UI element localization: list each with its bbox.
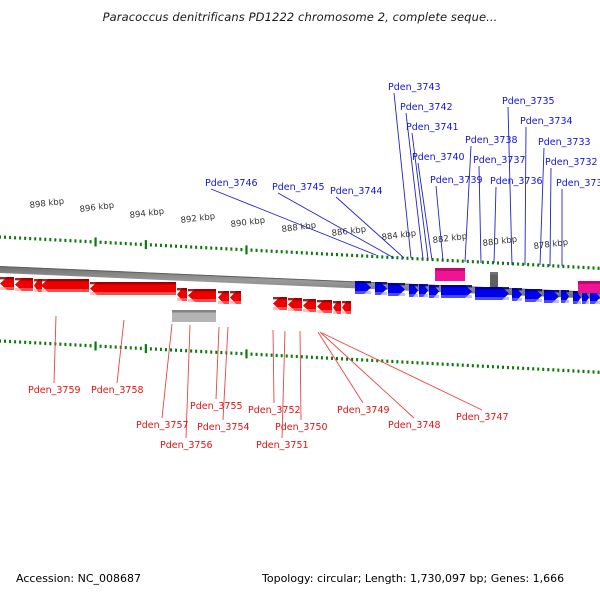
label-leader-line — [525, 127, 526, 265]
ruler-tick — [537, 263, 539, 266]
ruler-tick — [150, 243, 152, 246]
ruler-tick — [396, 360, 398, 363]
ruler-tick — [341, 357, 343, 360]
ruler-tick — [447, 259, 449, 262]
gene-bevel — [342, 311, 351, 314]
ruler-tick — [371, 359, 373, 362]
gene-bevel — [288, 308, 302, 311]
gene-bevel — [317, 300, 332, 302]
ruler-tick — [24, 341, 26, 344]
label-leader-line — [273, 330, 274, 403]
ruler-tick — [316, 356, 318, 359]
ruler-tick — [245, 349, 247, 358]
ruler-tick — [301, 355, 303, 358]
ruler-tick — [170, 244, 172, 247]
misc-feature-bevel — [490, 272, 498, 275]
ruler-tick — [527, 367, 529, 370]
ruler-tick — [215, 247, 217, 250]
ruler-tick — [170, 348, 172, 351]
ruler-tick — [261, 353, 263, 356]
gene-label-forward[interactable]: Pden_3741 — [406, 122, 459, 133]
ruler-tick — [34, 341, 36, 344]
ruler-tick — [572, 265, 574, 268]
gene-bevel — [419, 284, 428, 286]
ruler-tick — [19, 236, 21, 239]
ruler-tick — [29, 341, 31, 344]
ruler-tick — [361, 254, 363, 257]
ruler-tick — [366, 359, 368, 362]
gene-bevel — [429, 285, 439, 287]
gene-label-forward[interactable]: Pden_3731 — [556, 178, 600, 189]
ruler-tick — [577, 266, 579, 269]
gene-bevel — [218, 301, 229, 304]
gene-bevel — [218, 291, 229, 293]
ruler-tick — [160, 348, 162, 351]
gene-bevel — [409, 294, 418, 297]
ruler-tick — [4, 236, 6, 239]
ruler-tick — [220, 247, 222, 250]
ruler-tick — [120, 242, 122, 245]
ruler-tick-label: 886 kbp — [331, 225, 367, 239]
ruler-tick-label: 884 kbp — [381, 229, 417, 243]
ruler-tick — [110, 241, 112, 244]
gene-bevel — [441, 295, 472, 298]
ruler-tick — [487, 365, 489, 368]
ruler-tick — [416, 361, 418, 364]
ruler-tick — [220, 351, 222, 354]
ruler-tick — [175, 245, 177, 248]
ruler-tick — [366, 255, 368, 258]
ruler-tick — [205, 246, 207, 249]
label-leader-line — [162, 324, 172, 418]
ruler-tick — [175, 349, 177, 352]
ruler-tick — [502, 366, 504, 369]
label-leader-line — [550, 168, 551, 266]
gene-bevel — [375, 282, 387, 284]
gene-bevel — [573, 301, 581, 304]
ruler-tick — [200, 350, 202, 353]
ruler-tick — [477, 260, 479, 263]
ruler-tick — [316, 252, 318, 255]
gene-label-reverse[interactable]: Pden_3750 — [275, 422, 328, 433]
ruler-tick — [356, 358, 358, 361]
gene-label-forward[interactable]: Pden_3734 — [520, 116, 573, 127]
ruler-tick — [467, 260, 469, 263]
ruler-tick-label: 896 kbp — [79, 201, 115, 215]
gene-bevel — [34, 289, 42, 292]
ruler-tick — [64, 239, 66, 242]
gene-bevel — [288, 298, 302, 300]
ruler-tick — [386, 360, 388, 363]
ruler-tick — [90, 344, 92, 347]
ruler-tick — [94, 237, 96, 246]
ruler-tick — [225, 247, 227, 250]
gene-label-forward[interactable]: Pden_3733 — [538, 137, 591, 148]
gene-bevel — [582, 301, 589, 304]
ruler-tick — [100, 241, 102, 244]
reverse-gene-labels[interactable]: Pden_3759Pden_3758Pden_3757Pden_3756Pden… — [28, 385, 509, 451]
gene-bevel — [475, 287, 509, 289]
ruler-tick — [125, 346, 127, 349]
gene-label-forward[interactable]: Pden_3745 — [272, 182, 325, 193]
ruler-tick — [517, 366, 519, 369]
gene-bevel — [41, 289, 89, 292]
ruler-tick — [19, 340, 21, 343]
gene-bevel — [90, 292, 176, 295]
gene-label-forward[interactable]: Pden_3739 — [430, 175, 483, 186]
ruler-tick — [256, 249, 258, 252]
gene-label-reverse[interactable]: Pden_3755 — [190, 401, 243, 412]
ruler-tick — [467, 364, 469, 367]
ruler-tick-label: 898 kbp — [29, 197, 65, 211]
accession-text: Accession: NC_008687 — [16, 572, 141, 585]
gene-bevel — [475, 297, 509, 300]
ruler-tick — [180, 349, 182, 352]
ruler-tick — [245, 245, 247, 254]
ruler-tick — [562, 265, 564, 268]
gene-label-forward[interactable]: Pden_3740 — [412, 152, 465, 163]
ruler-tick — [49, 238, 51, 241]
gene-bevel — [409, 284, 418, 286]
ruler-tick — [341, 253, 343, 256]
ruler-tick — [588, 370, 590, 373]
ruler-tick-label: 890 kbp — [230, 216, 266, 230]
ruler-tick — [351, 254, 353, 257]
gene-label-forward[interactable]: Pden_3743 — [388, 82, 441, 93]
ruler-tick — [311, 356, 313, 359]
ruler-tick — [135, 242, 137, 245]
forward-strand-genes[interactable] — [355, 281, 600, 304]
ruler-tick — [557, 265, 559, 268]
ruler-tick — [79, 240, 81, 243]
gene-bevel — [388, 283, 405, 285]
ruler-tick — [100, 345, 102, 348]
ruler-tick — [547, 264, 549, 267]
gene-bevel — [441, 285, 472, 287]
ruler-tick — [160, 244, 162, 247]
ruler-tick — [39, 238, 41, 241]
ruler-tick — [427, 362, 429, 365]
ruler-tick — [210, 246, 212, 249]
label-leader-line — [54, 316, 56, 383]
gene-label-forward[interactable]: Pden_3746 — [205, 178, 258, 189]
gene-bevel — [355, 291, 371, 294]
gene-label-forward[interactable]: Pden_3742 — [400, 102, 453, 113]
gene-label-forward[interactable]: Pden_3732 — [545, 157, 598, 168]
ruler-tick — [336, 253, 338, 256]
gene-label-reverse[interactable]: Pden_3756 — [160, 440, 213, 451]
ruler-tick — [472, 364, 474, 367]
ruler-tick — [271, 250, 273, 253]
gene-bevel — [590, 301, 600, 304]
ruler-tick — [326, 252, 328, 255]
ruler-tick — [396, 256, 398, 259]
gene-bevel — [188, 289, 216, 291]
ruler-tick — [85, 240, 87, 243]
label-leader-line — [322, 333, 482, 410]
gene-bevel — [188, 299, 216, 302]
ruler-tick — [235, 248, 237, 251]
ruler-tick — [331, 357, 333, 360]
ruler-tick — [286, 354, 288, 357]
ruler-tick — [281, 354, 283, 357]
ruler-tick — [0, 235, 1, 238]
ruler-tick — [311, 252, 313, 255]
ruler-tick — [190, 245, 192, 248]
ruler-tick — [165, 348, 167, 351]
ruler-tick — [145, 344, 147, 353]
ruler-tick — [74, 343, 76, 346]
gene-label-forward[interactable]: Pden_3744 — [330, 186, 383, 197]
ruler-tick — [205, 350, 207, 353]
ruler-tick — [497, 365, 499, 368]
ruler-tick — [411, 361, 413, 364]
ruler-tick-label: 894 kbp — [129, 207, 165, 221]
ruler-tick — [266, 249, 268, 252]
ruler-tick — [251, 353, 253, 356]
ruler-tick — [406, 361, 408, 364]
gene-bevel — [419, 294, 428, 297]
ruler-tick — [507, 366, 509, 369]
ruler-tick-label: 878 kbp — [533, 238, 569, 252]
ruler-tick — [517, 262, 519, 265]
ruler-tick — [90, 240, 92, 243]
gene-label-forward[interactable]: Pden_3735 — [502, 96, 555, 107]
ruler-tick — [552, 368, 554, 371]
gene-bevel — [273, 297, 287, 299]
ruler-tick — [482, 365, 484, 368]
ruler-tick — [386, 256, 388, 259]
ruler-tick — [230, 247, 232, 250]
gene-bevel — [230, 291, 241, 293]
misc-feature-bevel — [172, 310, 216, 313]
ruler-tick — [321, 252, 323, 255]
genome-map-viewer[interactable]: Paracoccus denitrificans PD1222 chromoso… — [0, 0, 600, 600]
ruler-tick — [598, 267, 600, 270]
ruler-tick — [165, 244, 167, 247]
ruler-tick — [452, 259, 454, 262]
gene-bevel — [230, 301, 241, 304]
ruler-tick — [276, 354, 278, 357]
gene-label-reverse[interactable]: Pden_3751 — [256, 440, 309, 451]
gene-label-reverse[interactable]: Pden_3748 — [388, 420, 441, 431]
ruler-tick — [582, 266, 584, 269]
ruler-tick — [527, 263, 529, 266]
ruler-tick — [69, 239, 71, 242]
ruler-tick — [130, 346, 132, 349]
ruler-tick — [4, 340, 6, 343]
gene-bevel — [342, 301, 351, 303]
ruler-tick — [291, 251, 293, 254]
ruler-tick — [593, 266, 595, 269]
ruler-tick — [64, 343, 66, 346]
ruler-tick — [69, 343, 71, 346]
ruler-tick — [135, 346, 137, 349]
ruler-tick — [457, 363, 459, 366]
gene-bevel — [512, 288, 522, 290]
ruler-tick — [462, 364, 464, 367]
gene-label-forward[interactable]: Pden_3738 — [465, 135, 518, 146]
ruler-tick — [562, 369, 564, 372]
ruler-tick — [9, 236, 11, 239]
ruler-tick — [336, 357, 338, 360]
topology-stats-text: Topology: circular; Length: 1,730,097 bp… — [262, 572, 564, 585]
ruler-tick — [195, 350, 197, 353]
ruler-tick — [115, 345, 117, 348]
gene-bevel — [41, 279, 89, 281]
ruler-tick — [371, 255, 373, 258]
ruler-tick — [482, 261, 484, 264]
ruler-tick — [542, 368, 544, 371]
ruler-tick — [411, 257, 413, 260]
ruler-tick — [251, 249, 253, 252]
gene-bevel — [388, 293, 405, 296]
label-leader-line — [436, 186, 443, 261]
ruler-tick — [195, 246, 197, 249]
ruler-tick — [94, 341, 96, 350]
gene-bevel — [429, 295, 439, 298]
ruler-tick — [39, 342, 41, 345]
ruler-tick — [155, 348, 157, 351]
ruler-tick — [59, 239, 61, 242]
ruler-tick — [200, 246, 202, 249]
ruler-tick — [391, 360, 393, 363]
ruler-tick — [180, 245, 182, 248]
ruler-tick — [477, 364, 479, 367]
ruler-tick — [577, 370, 579, 373]
ruler-tick — [552, 264, 554, 267]
ruler-tick-label: 882 kbp — [432, 232, 468, 246]
ruler-tick — [361, 358, 363, 361]
ruler-tick — [416, 257, 418, 260]
ruler-tick — [296, 355, 298, 358]
ruler-tick — [105, 241, 107, 244]
ruler-tick — [401, 360, 403, 363]
gene-bevel — [15, 288, 33, 291]
ruler-tick — [215, 351, 217, 354]
gene-label-reverse[interactable]: Pden_3752 — [248, 405, 301, 416]
ruler-tick — [140, 243, 142, 246]
ruler-tick — [296, 251, 298, 254]
ruler-tick — [240, 248, 242, 251]
rna-feature-bevel — [578, 281, 600, 284]
ruler-tick — [326, 356, 328, 359]
ruler-tick — [185, 245, 187, 248]
ruler-tick — [321, 356, 323, 359]
gene-bevel — [561, 300, 569, 303]
gene-label-reverse[interactable]: Pden_3747 — [456, 412, 509, 423]
ruler-tick — [381, 255, 383, 258]
ruler-tick — [0, 339, 1, 342]
ruler-tick — [145, 240, 147, 249]
label-leader-line — [494, 187, 496, 263]
ruler-tick — [422, 361, 424, 364]
ruler-tick — [557, 369, 559, 372]
ruler-tick — [532, 367, 534, 370]
ruler-tick — [442, 363, 444, 366]
ruler-tick — [532, 263, 534, 266]
ruler-tick — [286, 250, 288, 253]
ruler-tick — [512, 366, 514, 369]
ruler-tick — [110, 345, 112, 348]
ruler-tick — [582, 370, 584, 373]
ruler-tick — [115, 241, 117, 244]
ruler-tick — [522, 263, 524, 266]
gene-bevel — [512, 298, 522, 301]
ruler-tick — [235, 352, 237, 355]
gene-bevel — [0, 287, 14, 290]
gene-bevel — [273, 307, 287, 310]
gene-bevel — [34, 279, 42, 281]
gene-label-forward[interactable]: Pden_3737 — [473, 155, 526, 166]
ruler-tick — [437, 258, 439, 261]
ruler-tick — [598, 371, 600, 374]
ruler-tick — [462, 260, 464, 263]
gene-bevel — [177, 298, 187, 301]
ruler-tick — [437, 362, 439, 365]
ruler-tick — [447, 363, 449, 366]
gene-bevel — [90, 282, 176, 284]
gene-bevel — [317, 310, 332, 313]
gene-bevel — [525, 289, 542, 291]
gene-bevel — [544, 290, 559, 292]
ruler-tick — [306, 251, 308, 254]
gene-label-forward[interactable]: Pden_3736 — [490, 176, 543, 187]
ruler-tick — [59, 343, 61, 346]
ruler-tick — [155, 244, 157, 247]
label-leader-line — [465, 146, 471, 262]
ruler-tick — [85, 344, 87, 347]
label-leader-line — [117, 320, 124, 383]
ruler-tick-label: 892 kbp — [180, 212, 216, 226]
genome-track-canvas[interactable]: 898 kbp896 kbp894 kbp892 kbp890 kbp888 k… — [0, 0, 600, 600]
ruler-tick — [406, 257, 408, 260]
ruler-tick-label: 888 kbp — [281, 221, 317, 235]
ruler-tick — [9, 340, 11, 343]
ruler-tick — [301, 251, 303, 254]
ruler-tick — [44, 238, 46, 241]
ruler-tick — [492, 365, 494, 368]
ruler-tick — [593, 370, 595, 373]
ruler-tick — [572, 369, 574, 372]
ruler-tick — [507, 262, 509, 265]
ruler-tick — [190, 349, 192, 352]
ruler-tick — [356, 254, 358, 257]
gene-bevel — [303, 309, 316, 312]
ruler-tick — [542, 264, 544, 267]
gene-label-reverse[interactable]: Pden_3759 — [28, 385, 81, 396]
ruler-tick — [281, 250, 283, 253]
ruler-tick — [271, 354, 273, 357]
gene-bevel — [303, 299, 316, 301]
ruler-tick — [125, 242, 127, 245]
ruler-tick-label: 880 kbp — [482, 235, 518, 249]
ruler-tick — [291, 355, 293, 358]
ruler-tick — [331, 253, 333, 256]
gene-bevel — [544, 300, 559, 303]
gene-label-reverse[interactable]: Pden_3757 — [136, 420, 189, 431]
ruler-tick — [266, 353, 268, 356]
gene-label-reverse[interactable]: Pden_3758 — [91, 385, 144, 396]
ruler-tick — [49, 342, 51, 345]
gene-bevel — [375, 292, 387, 295]
gene-label-reverse[interactable]: Pden_3754 — [197, 422, 250, 433]
gene-bevel — [333, 301, 341, 303]
ruler-tick — [567, 265, 569, 268]
ruler-tick — [452, 363, 454, 366]
gene-label-reverse[interactable]: Pden_3749 — [337, 405, 390, 416]
gene-bevel — [525, 299, 542, 302]
